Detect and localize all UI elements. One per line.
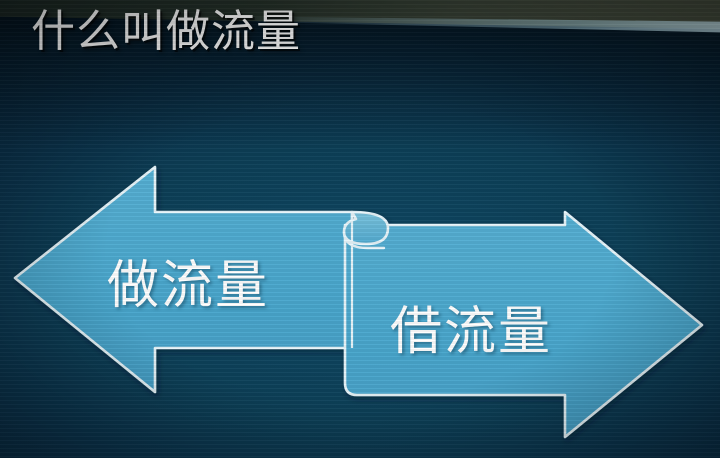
double-arrow-diagram [0,0,720,458]
right-arrow-label: 借流量 [390,289,552,364]
slide-canvas: 什么叫做流量 做流量 借 [0,0,720,458]
left-arrow-label: 做流量 [107,243,269,318]
